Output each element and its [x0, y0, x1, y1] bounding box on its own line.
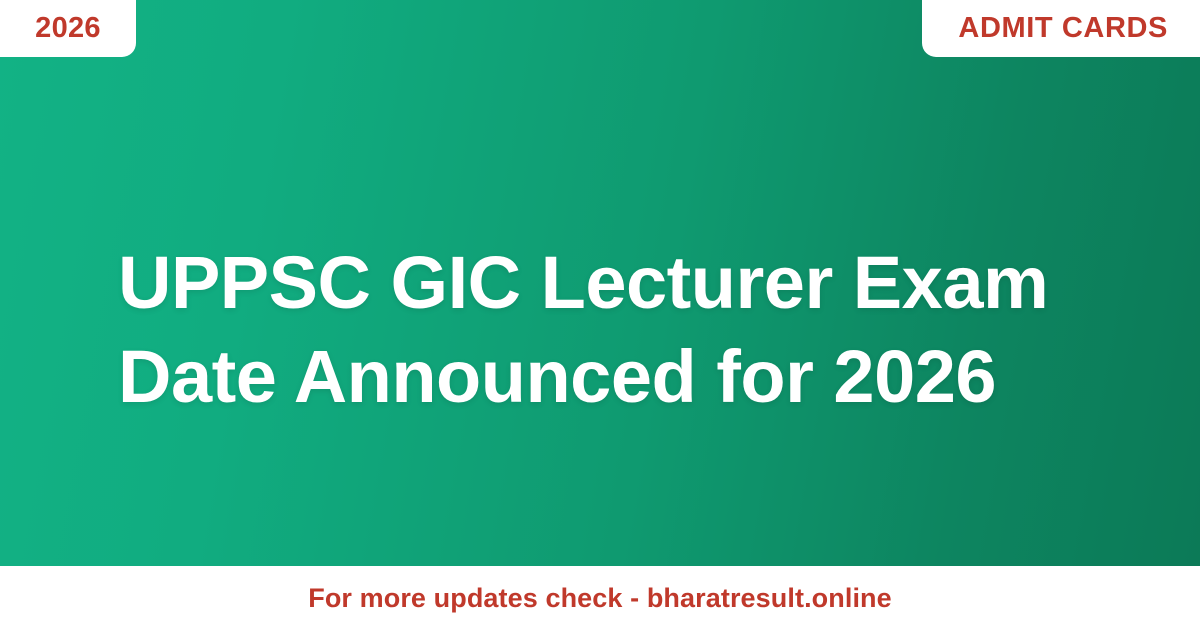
category-badge: ADMIT CARDS	[922, 0, 1200, 57]
footer-note: For more updates check - bharatresult.on…	[308, 585, 892, 612]
poster-canvas: 2026 ADMIT CARDS UPPSC GIC Lecturer Exam…	[0, 0, 1200, 630]
category-badge-label: ADMIT CARDS	[958, 14, 1168, 43]
year-badge: 2026	[0, 0, 136, 57]
year-badge-label: 2026	[35, 14, 101, 43]
footer-bar: For more updates check - bharatresult.on…	[0, 566, 1200, 630]
headline-title: UPPSC GIC Lecturer Exam Date Announced f…	[118, 236, 1108, 424]
